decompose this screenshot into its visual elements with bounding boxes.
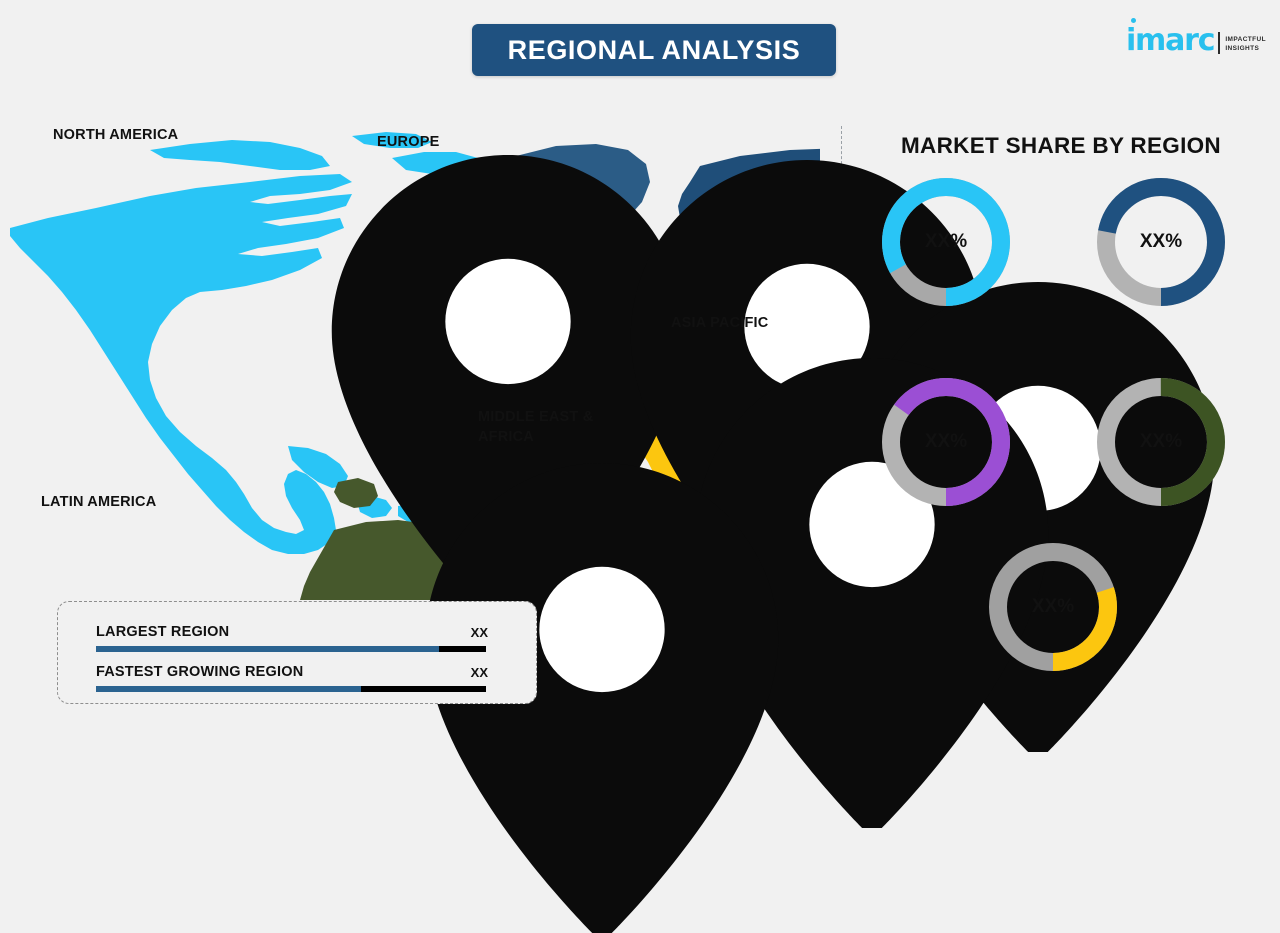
legend-bar-fill-fastest-growing-region (96, 686, 361, 692)
infographic-canvas: REGIONAL ANALYSIS imarc IMPACTFUL INSIGH… (0, 0, 1280, 720)
logo-tagline-line1: IMPACTFUL (1225, 36, 1266, 45)
donut-europe[interactable]: XX% (1091, 172, 1231, 312)
map-label-europe: EUROPE (377, 133, 439, 153)
map-label-asia-pacific: ASIA PACIFIC (671, 314, 768, 334)
donut-middle-east-africa[interactable]: XX% (983, 537, 1123, 677)
donut-chart-group: XX% XX% XX% XX% (846, 172, 1276, 682)
page-title: REGIONAL ANALYSIS (508, 35, 801, 66)
donut-latin-america[interactable]: XX% (1091, 372, 1231, 512)
donut-north-america-value: XX% (876, 172, 1016, 312)
region-summary-box: LARGEST REGION XX FASTEST GROWING REGION… (57, 601, 537, 704)
logo-tagline: IMPACTFUL INSIGHTS (1225, 36, 1266, 54)
donut-latin-america-value: XX% (1091, 372, 1231, 512)
donut-asia-pacific-value: XX% (876, 372, 1016, 512)
panel-title: MARKET SHARE BY REGION (842, 133, 1280, 159)
map-label-middle-east-africa: MIDDLE EAST & AFRICA (478, 408, 593, 447)
legend-label-fastest-growing-region: FASTEST GROWING REGION (96, 664, 303, 680)
legend-label-largest-region: LARGEST REGION (96, 624, 229, 640)
legend-bar-largest-region (96, 646, 486, 652)
legend-value-fastest-growing-region: XX (471, 665, 488, 680)
logo-wordmark: imarc (1126, 26, 1214, 56)
donut-asia-pacific[interactable]: XX% (876, 372, 1016, 512)
donut-middle-east-africa-value: XX% (983, 537, 1123, 677)
map-label-latin-america: LATIN AMERICA (41, 493, 156, 513)
donut-north-america[interactable]: XX% (876, 172, 1016, 312)
logo-word: imarc (1126, 26, 1214, 56)
map-label-north-america: NORTH AMERICA (53, 126, 178, 146)
world-map (0, 130, 820, 600)
legend-bar-fill-largest-region (96, 646, 439, 652)
page-title-banner: REGIONAL ANALYSIS (472, 24, 836, 76)
logo-divider (1218, 32, 1220, 54)
donut-europe-value: XX% (1091, 172, 1231, 312)
imarc-logo: imarc IMPACTFUL INSIGHTS (1126, 20, 1266, 56)
legend-value-largest-region: XX (471, 625, 488, 640)
logo-dot-icon (1131, 18, 1136, 23)
legend-bar-fastest-growing-region (96, 686, 486, 692)
logo-tagline-line2: INSIGHTS (1225, 45, 1266, 54)
